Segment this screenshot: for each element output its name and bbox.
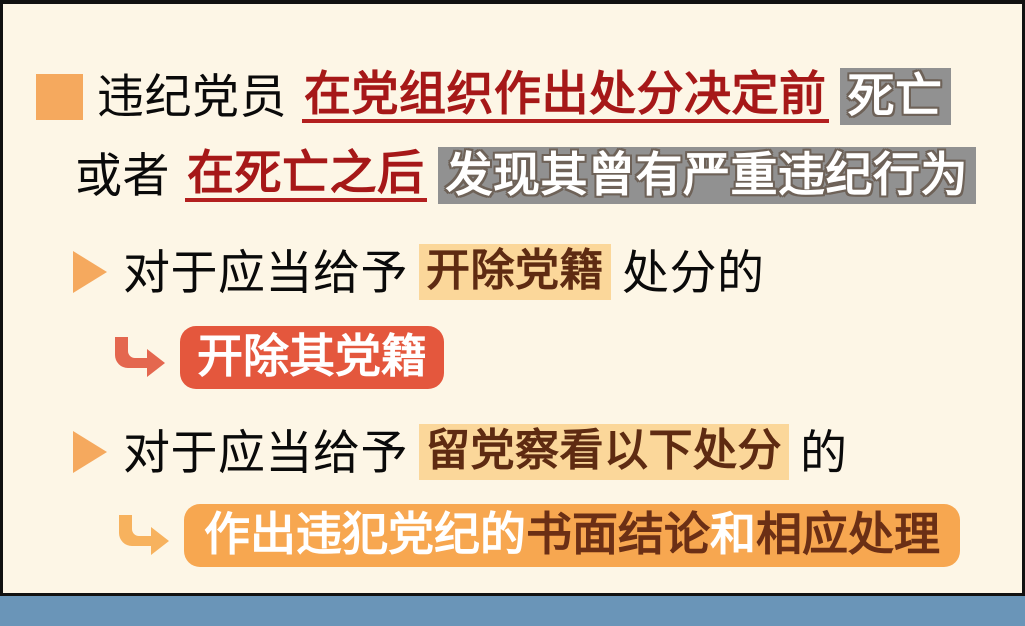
line3-text-plain-lead: 对于应当给予: [123, 249, 408, 296]
line1-text-plain: 违纪党员: [97, 73, 287, 120]
elbow-arrow-icon: [111, 335, 167, 381]
slide-canvas: 违纪党员 在党组织作出处分决定前 死亡 或者 在死亡之后 发现其曾有严重违纪行为…: [0, 0, 1025, 596]
content-line-6: 作出违犯党纪的书面结论和相应处理: [115, 504, 960, 567]
line5-text-plain-tail: 的: [800, 429, 848, 476]
content-line-2: 或者 在死亡之后 发现其曾有严重违纪行为: [75, 147, 976, 204]
orange-triangle-bullet-icon: [73, 431, 107, 473]
line2-text-plain: 或者: [75, 152, 170, 199]
line6-result-badge: 作出违犯党纪的书面结论和相应处理: [184, 504, 960, 567]
line3-text-plain-tail: 处分的: [622, 249, 765, 296]
line6-badge-segment-2: 书面结论: [526, 511, 710, 557]
content-line-1: 违纪党员 在党组织作出处分决定前 死亡: [36, 68, 951, 125]
line5-text-plain-lead: 对于应当给予: [123, 429, 408, 476]
line6-badge-segment-1: 作出违犯党纪的: [204, 511, 526, 557]
line2-text-gray-highlight: 发现其曾有严重违纪行为: [438, 147, 977, 204]
line5-text-amber-highlight: 留党察看以下处分: [419, 424, 789, 480]
line6-badge-segment-4: 相应处理: [756, 511, 940, 557]
line6-badge-segment-3: 和: [710, 511, 756, 557]
slide-root: 违纪党员 在党组织作出处分决定前 死亡 或者 在死亡之后 发现其曾有严重违纪行为…: [0, 0, 1025, 626]
orange-triangle-bullet-icon: [73, 251, 107, 293]
content-line-5: 对于应当给予 留党察看以下处分 的: [73, 424, 848, 480]
line1-text-gray-highlight: 死亡: [840, 68, 951, 125]
footer-bar: [0, 596, 1025, 626]
line1-text-emphasis-red: 在党组织作出处分决定前: [302, 70, 829, 123]
line2-text-emphasis-red: 在死亡之后: [185, 149, 427, 202]
line4-result-badge: 开除其党籍: [180, 326, 444, 389]
content-line-4: 开除其党籍: [111, 326, 444, 389]
line3-text-amber-highlight: 开除党籍: [419, 244, 611, 300]
elbow-arrow-icon: [115, 513, 171, 559]
content-line-3: 对于应当给予 开除党籍 处分的: [73, 244, 765, 300]
orange-square-bullet-icon: [36, 74, 83, 120]
